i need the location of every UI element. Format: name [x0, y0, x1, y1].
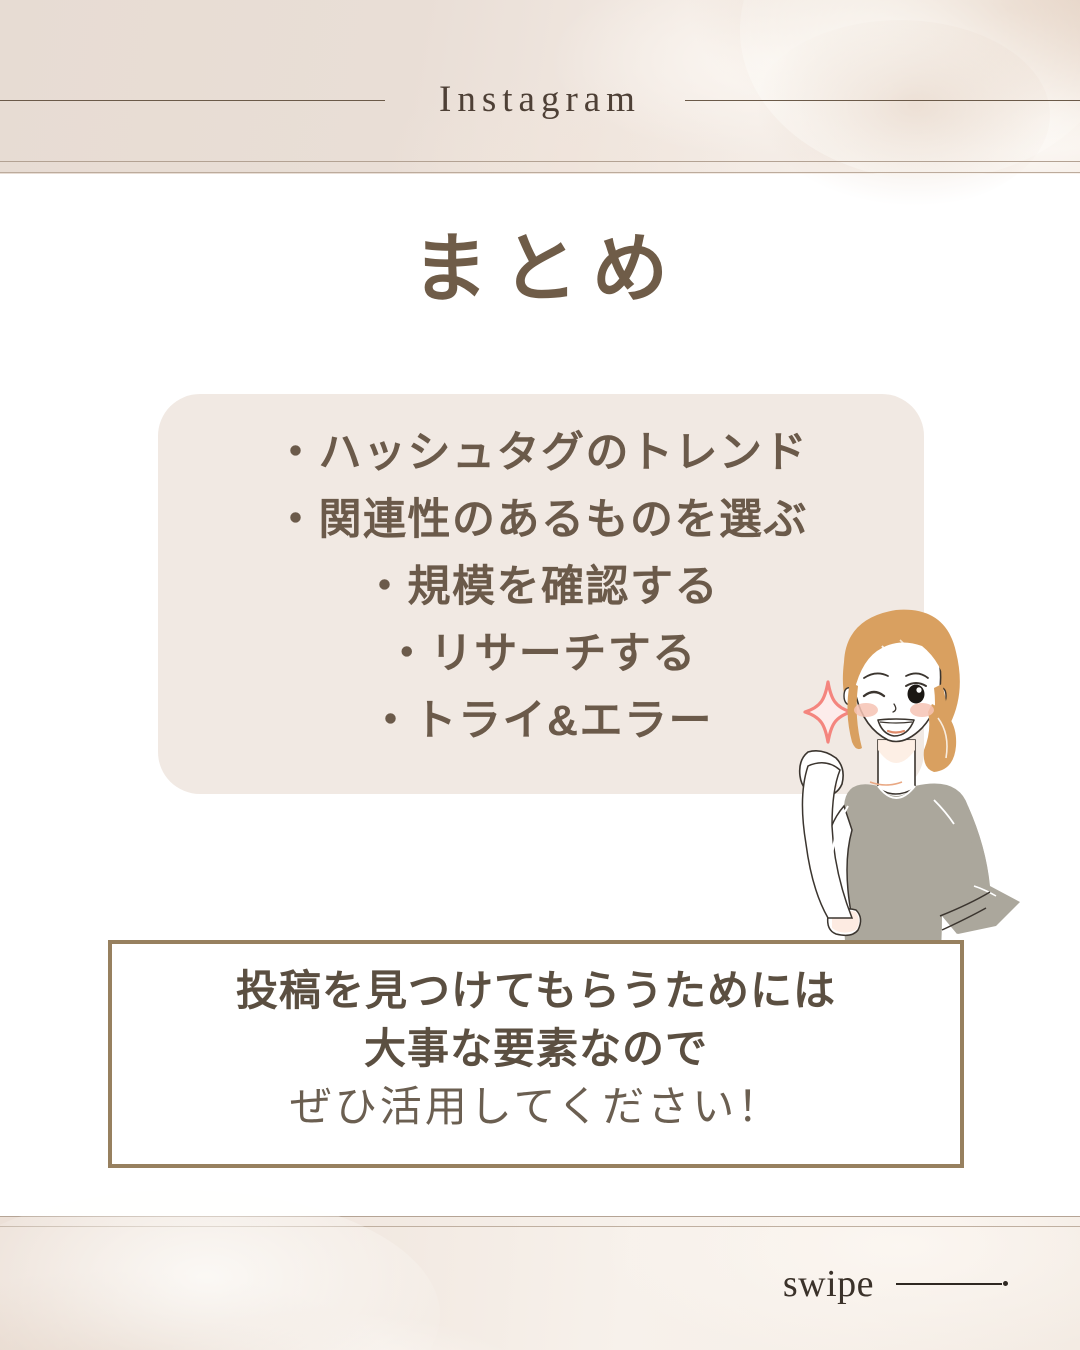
band-rule-upper	[0, 161, 1080, 162]
page-title: まとめ	[0, 222, 1080, 318]
swipe-label: swipe	[783, 1262, 874, 1306]
band-rule-lower	[0, 172, 1080, 173]
satin-swirl-bottom	[0, 1190, 440, 1350]
message-line: 大事な要素なので	[108, 1020, 964, 1078]
swipe-indicator[interactable]: swipe	[783, 1262, 1008, 1306]
instagram-carousel-slide: Instagram まとめ ・ハッシュタグのトレンド ・関連性のあるものを選ぶ …	[0, 0, 1080, 1350]
list-item: ・ハッシュタグのトレンド	[158, 420, 924, 487]
highlight-message-text: 投稿を見つけてもらうためには 大事な要素なので ぜひ活用してください！	[108, 962, 964, 1136]
list-item: ・関連性のあるものを選ぶ	[158, 487, 924, 554]
message-line: 投稿を見つけてもらうためには	[108, 962, 964, 1020]
line-arrow-right-icon	[896, 1280, 1008, 1288]
header-title: Instagram	[0, 76, 1080, 124]
illustration-smiling-woman	[782, 600, 1080, 960]
message-line: ぜひ活用してください！	[108, 1078, 964, 1136]
